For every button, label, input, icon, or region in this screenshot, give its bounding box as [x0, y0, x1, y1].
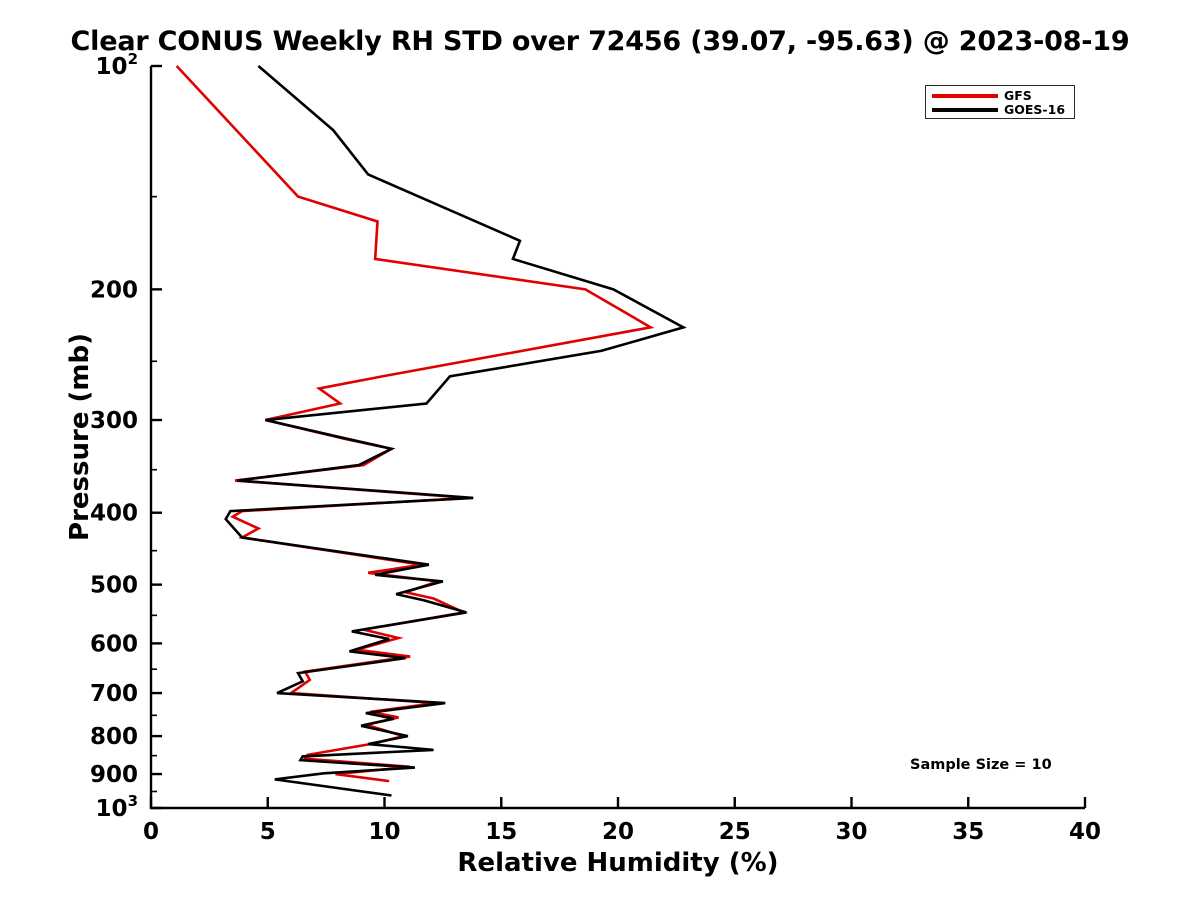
y-tick-label: 600: [90, 631, 138, 657]
y-tick-label: 103: [96, 792, 138, 822]
x-tick-label: 40: [1069, 819, 1101, 845]
legend-swatch-gfs: [932, 94, 998, 98]
x-tick-label: 15: [485, 819, 517, 845]
y-axis-title: Pressure (mb): [65, 333, 95, 541]
series-line-goes-16: [226, 66, 684, 796]
legend-entry-goes16: GOES-16: [932, 103, 1065, 117]
x-tick-label: 0: [143, 819, 159, 845]
y-tick-label: 400: [90, 501, 138, 527]
tick-labels: 0510152025303540102200300400500600700800…: [90, 50, 1101, 845]
y-tick-label: 300: [90, 408, 138, 434]
data-series: [177, 66, 684, 796]
y-tick-label: 700: [90, 681, 138, 707]
legend-label-goes16: GOES-16: [1004, 104, 1065, 117]
y-tick-label: 900: [90, 762, 138, 788]
legend-swatch-goes16: [932, 108, 998, 112]
y-tick-label: 200: [90, 277, 138, 303]
x-tick-label: 30: [835, 819, 867, 845]
x-tick-label: 25: [719, 819, 751, 845]
sample-size-annotation: Sample Size = 10: [910, 757, 1052, 773]
y-tick-label: 500: [90, 573, 138, 599]
x-tick-label: 5: [260, 819, 276, 845]
axes: [151, 66, 1085, 808]
legend-entry-gfs: GFS: [932, 89, 1032, 103]
x-tick-label: 20: [602, 819, 634, 845]
y-tick-label: 102: [96, 50, 138, 80]
x-tick-label: 10: [368, 819, 400, 845]
y-tick-label: 800: [90, 724, 138, 750]
series-line-gfs: [177, 66, 651, 781]
legend-label-gfs: GFS: [1004, 90, 1032, 103]
x-axis-title: Relative Humidity (%): [457, 848, 778, 878]
legend[interactable]: GFS GOES-16: [925, 85, 1075, 119]
axis-titles: Relative Humidity (%)Pressure (mb): [65, 333, 779, 878]
x-tick-label: 35: [952, 819, 984, 845]
chart-page: Clear CONUS Weekly RH STD over 72456 (39…: [0, 0, 1200, 900]
